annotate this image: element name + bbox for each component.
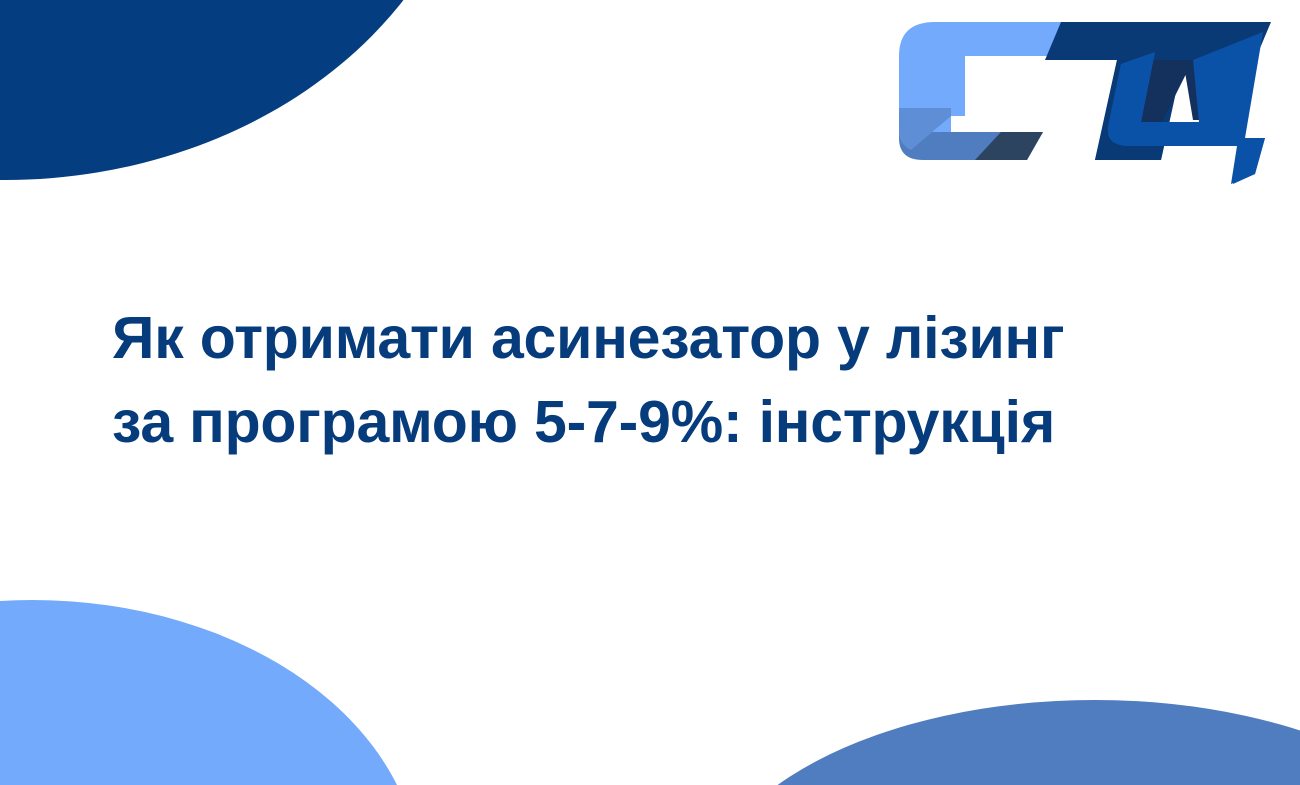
page-title: Як отримати асинезатор у лізинг за прогр… [112, 296, 1202, 464]
decorative-shape-top-left [0, 0, 480, 180]
brand-logo-icon [893, 12, 1288, 184]
decorative-shape-bottom-right [700, 700, 1300, 785]
decorative-shape-bottom-left [0, 600, 420, 785]
page-title-line-2: за програмою 5-7-9%: інструкція [112, 380, 1202, 464]
brand-logo[interactable] [893, 12, 1288, 184]
page-title-line-1: Як отримати асинезатор у лізинг [112, 296, 1202, 380]
banner-canvas: Як отримати асинезатор у лізинг за прогр… [0, 0, 1300, 785]
